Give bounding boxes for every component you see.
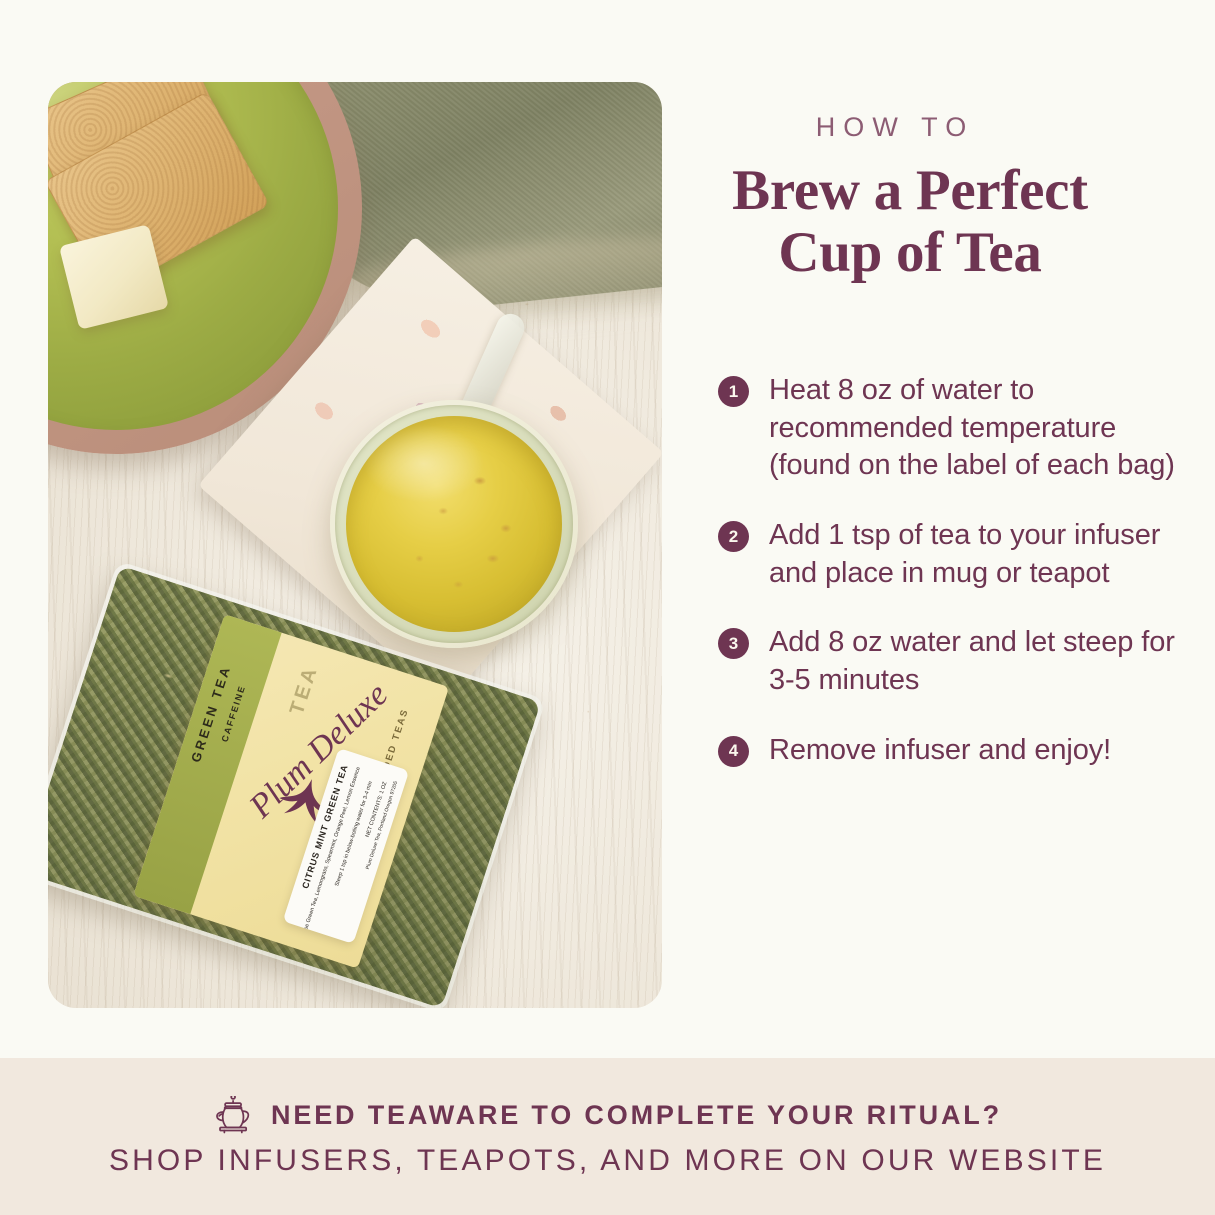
step-text: Add 1 tsp of tea to your infuser and pla… [769,517,1180,592]
step-number-badge: 2 [718,521,749,552]
headline-line-1: Brew a Perfect [700,160,1120,222]
glass-tea-cup [330,400,578,648]
footer-top-row: NEED TEAWARE TO COMPLETE YOUR RITUAL? [213,1096,1002,1136]
steps-list: 1 Heat 8 oz of water to recommended temp… [718,372,1180,770]
step-number-badge: 1 [718,376,749,407]
label-watermark-tea: TEA [286,662,324,717]
step-number-badge: 3 [718,628,749,659]
hero-photo: GREEN TEA CAFFEINE TEA HAND BLENDED TEAS… [48,82,662,1008]
list-item: 2 Add 1 tsp of tea to your infuser and p… [718,517,1180,592]
footer-headline: NEED TEAWARE TO COMPLETE YOUR RITUAL? [271,1100,1002,1131]
step-text: Heat 8 oz of water to recommended temper… [769,372,1180,485]
list-item: 3 Add 8 oz water and let steep for 3-5 m… [718,624,1180,699]
step-text: Add 8 oz water and let steep for 3-5 min… [769,624,1180,699]
list-item: 1 Heat 8 oz of water to recommended temp… [718,372,1180,485]
step-text: Remove infuser and enjoy! [769,732,1111,770]
kicker-text: HOW TO [700,112,1090,143]
content-column: HOW TO Brew a Perfect Cup of Tea 1 Heat … [700,0,1215,1058]
step-number-badge: 4 [718,736,749,767]
footer-banner: NEED TEAWARE TO COMPLETE YOUR RITUAL? SH… [0,1058,1215,1215]
list-item: 4 Remove infuser and enjoy! [718,732,1180,770]
headline-line-2: Cup of Tea [700,222,1120,284]
page-title: Brew a Perfect Cup of Tea [700,160,1120,283]
photo-scene: GREEN TEA CAFFEINE TEA HAND BLENDED TEAS… [48,82,662,1008]
brewed-green-tea [346,416,562,632]
poster-root: GREEN TEA CAFFEINE TEA HAND BLENDED TEAS… [0,0,1215,1215]
teapot-icon [213,1096,255,1136]
footer-subline: SHOP INFUSERS, TEAPOTS, AND MORE ON OUR … [109,1144,1106,1178]
